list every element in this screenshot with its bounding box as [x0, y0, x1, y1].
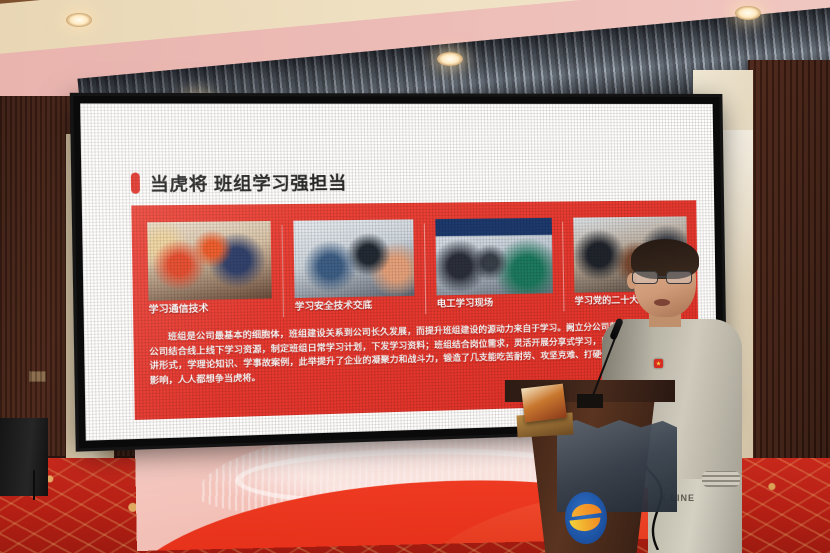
- photo-divider: [424, 223, 427, 314]
- photo-image-safety-disclosure: [293, 219, 414, 298]
- photo-caption: 学习安全技术交底: [295, 299, 415, 312]
- conference-hall-photo: 当虎将 班组学习强担当 学习通信技术 学习安全技术交底: [0, 0, 830, 553]
- downlight-icon: [66, 13, 92, 27]
- presenter-sleeve-cuff: [702, 471, 740, 487]
- photo-caption: 电工学习现场: [437, 296, 554, 309]
- glasses-icon: [630, 271, 698, 284]
- downlight-icon: [735, 6, 761, 20]
- company-logo-icon: [565, 492, 607, 544]
- glasses-lens-left: [632, 271, 658, 284]
- loudspeaker-cabinet: [0, 418, 48, 496]
- microphone-base: [577, 394, 603, 408]
- photo-image-electrician-training: [435, 218, 553, 296]
- party-emblem-pin-icon: [654, 359, 663, 368]
- presenter-mouth: [654, 299, 670, 306]
- photo-item: 电工学习现场: [435, 218, 553, 318]
- photo-divider: [281, 225, 284, 317]
- title-bullet-icon: [131, 172, 140, 193]
- speaker-cable: [33, 470, 35, 500]
- slide-title: 当虎将 班组学习强担当: [131, 168, 347, 196]
- photo-image-communication-training: [147, 221, 272, 301]
- photo-divider: [562, 222, 564, 311]
- wall-switch-plate[interactable]: [29, 371, 46, 382]
- slide-title-text: 当虎将 班组学习强担当: [150, 168, 347, 196]
- award-plaque: [521, 384, 567, 423]
- podium: [505, 380, 675, 553]
- photo-item: 学习安全技术交底: [293, 219, 414, 321]
- downlight-icon: [437, 52, 463, 66]
- glasses-lens-right: [666, 271, 692, 284]
- photo-item: 学习通信技术: [147, 221, 272, 324]
- photo-caption: 学习通信技术: [149, 302, 272, 315]
